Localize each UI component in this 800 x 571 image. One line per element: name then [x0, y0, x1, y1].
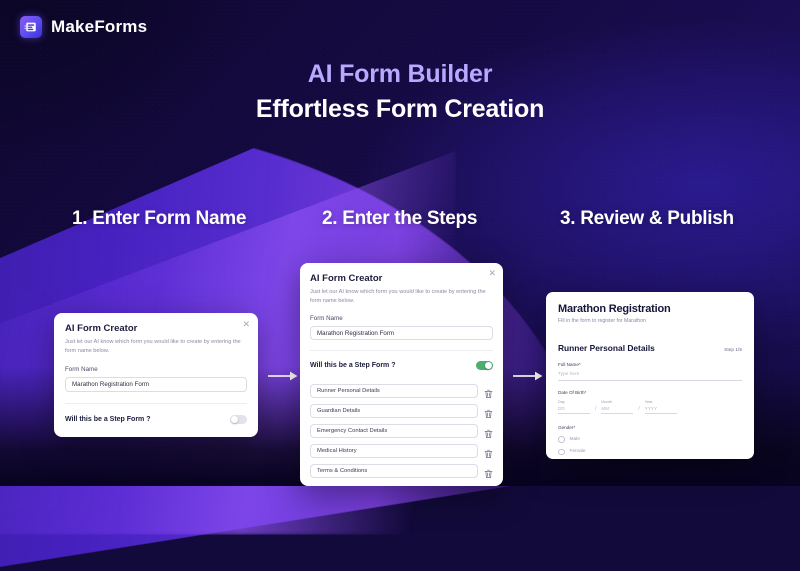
step-list-item: Emergency Contact Details — [310, 424, 493, 438]
close-icon[interactable]: ✕ — [488, 269, 496, 278]
card1-divider — [65, 403, 247, 404]
step-list-item: Terms & Conditions — [310, 464, 493, 478]
card3-full-name-label: Full Name* — [558, 362, 742, 367]
close-icon[interactable]: ✕ — [242, 320, 250, 329]
arrow-step2-to-step3 — [513, 369, 543, 387]
card3-gender-option-male[interactable]: Male — [558, 436, 742, 443]
card3-gender-male-label: Male — [570, 437, 580, 442]
card3-step-counter: Step 1/5 — [724, 348, 742, 353]
card3-dob-month[interactable]: Month MM — [601, 400, 633, 414]
card3-dob-year-caption: Year — [645, 400, 677, 404]
hero-title-primary: AI Form Builder — [0, 60, 800, 89]
card3-section-title: Runner Personal Details — [558, 343, 655, 353]
card3-dob-day-caption: Day — [558, 400, 590, 404]
card3-gender-label: Gender* — [558, 425, 742, 430]
toggle-knob-icon — [231, 416, 238, 423]
card2-title: AI Form Creator — [310, 273, 493, 284]
card2-step-form-toggle[interactable] — [476, 361, 493, 370]
card3-header: Marathon Registration Fill in the form t… — [546, 292, 754, 333]
toggle-knob-icon — [485, 362, 492, 369]
card3-dob-row: Day DD / Month MM / Year YYYY — [558, 400, 742, 414]
step-item-input[interactable]: Guardian Details — [310, 404, 478, 418]
card3-gender-option-female[interactable]: Female — [558, 449, 742, 456]
card3-form-body: Full Name* Type here Date Of Birth* Day … — [546, 362, 754, 455]
card3-dob-month-caption: Month — [601, 400, 633, 404]
brand-logo[interactable]: MakeForms — [20, 16, 147, 38]
trash-icon[interactable] — [484, 406, 493, 416]
card1-step-form-toggle[interactable] — [230, 415, 247, 424]
ai-form-creator-card-step1: ✕ AI Form Creator Just let our AI know w… — [54, 313, 258, 437]
ai-form-creator-card-step2: ✕ AI Form Creator Just let our AI know w… — [300, 263, 503, 486]
step-label-1: 1. Enter Form Name — [72, 208, 246, 230]
card3-dob-day-input[interactable]: DD — [558, 406, 590, 414]
step-item-input[interactable]: Terms & Conditions — [310, 464, 478, 478]
card3-full-name-input[interactable]: Type here — [558, 372, 742, 381]
trash-icon[interactable] — [484, 466, 493, 476]
step-label-3: 3. Review & Publish — [560, 208, 734, 230]
step-item-input[interactable]: Medical History — [310, 444, 478, 458]
card1-title: AI Form Creator — [65, 323, 247, 334]
arrow-step1-to-step2 — [268, 369, 298, 387]
brand-name: MakeForms — [51, 17, 147, 37]
step-item-input[interactable]: Emergency Contact Details — [310, 424, 478, 438]
trash-icon[interactable] — [484, 426, 493, 436]
card1-description: Just let our AI know which form you woul… — [65, 338, 247, 355]
card3-section-header: Runner Personal Details Step 1/5 — [546, 343, 754, 353]
card2-description: Just let our AI know which form you woul… — [310, 288, 493, 305]
card3-dob-label: Date Of Birth* — [558, 390, 742, 395]
step-list-item: Medical History — [310, 444, 493, 458]
card2-step-list: Runner Personal Details Guardian Details… — [310, 384, 493, 478]
form-preview-card-step3: Marathon Registration Fill in the form t… — [546, 292, 754, 459]
step-list-item: Runner Personal Details — [310, 384, 493, 398]
card3-dob-year-input[interactable]: YYYY — [645, 406, 677, 414]
step-label-2: 2. Enter the Steps — [322, 208, 477, 230]
card3-dob-separator: / — [638, 406, 639, 414]
hero-title-secondary: Effortless Form Creation — [0, 95, 800, 124]
card2-form-name-label: Form Name — [310, 315, 493, 322]
card3-dob-month-input[interactable]: MM — [601, 406, 633, 414]
card3-dob-separator: / — [595, 406, 596, 414]
card2-divider — [310, 350, 493, 351]
card1-form-name-label: Form Name — [65, 366, 247, 373]
card1-step-form-question: Will this be a Step Form ? — [65, 416, 151, 423]
radio-icon — [558, 449, 565, 456]
radio-icon — [558, 436, 565, 443]
makeforms-logo-icon — [20, 16, 42, 38]
card3-dob-day[interactable]: Day DD — [558, 400, 590, 414]
card3-gender-female-label: Female — [570, 449, 586, 454]
card3-form-subtitle: Fill in the form to register for Maratho… — [558, 318, 742, 324]
trash-icon[interactable] — [484, 446, 493, 456]
trash-icon[interactable] — [484, 386, 493, 396]
card3-dob-year[interactable]: Year YYYY — [645, 400, 677, 414]
card2-step-form-question: Will this be a Step Form ? — [310, 362, 396, 369]
card1-form-name-input[interactable]: Marathon Registration Form — [65, 377, 247, 392]
card3-form-title: Marathon Registration — [558, 303, 742, 315]
step-list-item: Guardian Details — [310, 404, 493, 418]
step-item-input[interactable]: Runner Personal Details — [310, 384, 478, 398]
hero-heading: AI Form Builder Effortless Form Creation — [0, 60, 800, 124]
card2-form-name-input[interactable]: Marathon Registration Form — [310, 326, 493, 340]
